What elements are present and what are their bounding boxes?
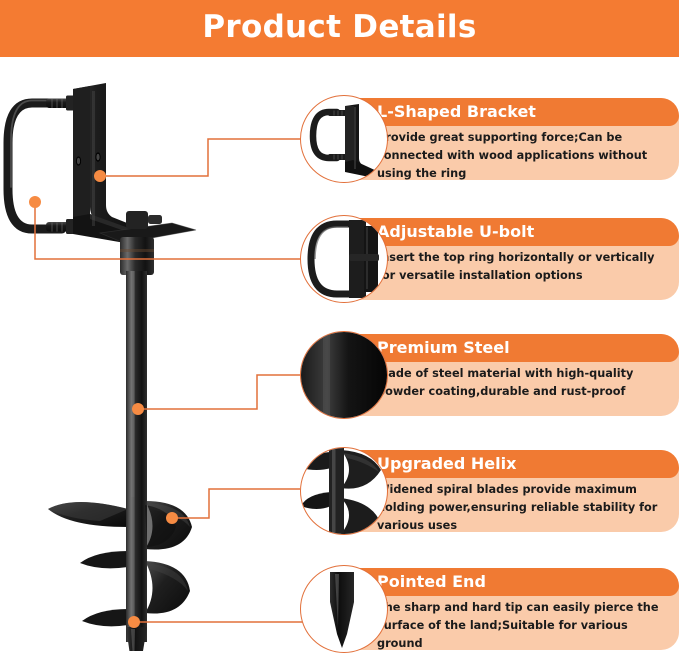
callout-title: Upgraded Helix	[377, 453, 516, 475]
pointed-tip-part	[126, 627, 147, 651]
card-shell: Pointed End The sharp and hard tip can e…	[338, 568, 679, 650]
callout-card-pointed-end[interactable]: Pointed End The sharp and hard tip can e…	[338, 568, 679, 650]
callout-title: Adjustable U-bolt	[377, 221, 534, 243]
callout-card-premium-steel[interactable]: Premium Steel Made of steel material wit…	[338, 334, 679, 416]
callout-description: Made of steel material with high-quality…	[377, 365, 667, 401]
helix-blades-part	[48, 497, 192, 642]
steel-shaft-icon	[300, 331, 388, 419]
product-image	[0, 57, 290, 651]
pointed-tip-icon	[300, 565, 388, 653]
page-title: Product Details	[202, 12, 476, 45]
callout-card-adjustable-u-bolt[interactable]: Adjustable U-bolt Insert the top ring ho…	[338, 218, 679, 300]
l-bracket-icon	[300, 95, 388, 183]
callout-card-l-shaped-bracket[interactable]: L-Shaped Bracket Provide great supportin…	[338, 98, 679, 180]
page-header-banner: Product Details	[0, 0, 679, 57]
card-shell: Adjustable U-bolt Insert the top ring ho…	[338, 218, 679, 300]
callout-description: Widened spiral blades provide maximum ho…	[377, 481, 667, 532]
card-shell: Premium Steel Made of steel material wit…	[338, 334, 679, 416]
callout-title: L-Shaped Bracket	[377, 101, 536, 123]
callout-title: Premium Steel	[377, 337, 510, 359]
card-shell: L-Shaped Bracket Provide great supportin…	[338, 98, 679, 180]
callout-description: The sharp and hard tip can easily pierce…	[377, 599, 667, 650]
callout-description: Provide great supporting force;Can be co…	[377, 129, 667, 180]
helix-blade-icon	[300, 447, 388, 535]
callout-card-upgraded-helix[interactable]: Upgraded Helix Widened spiral blades pro…	[338, 450, 679, 532]
u-bolt-ring-icon	[300, 215, 388, 303]
card-shell: Upgraded Helix Widened spiral blades pro…	[338, 450, 679, 532]
callout-title: Pointed End	[377, 571, 486, 593]
callout-description: Insert the top ring horizontally or vert…	[377, 249, 667, 285]
